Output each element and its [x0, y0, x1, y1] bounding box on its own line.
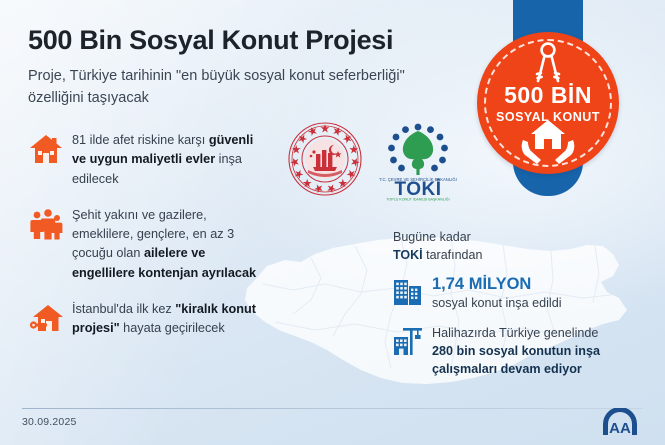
footer-date: 30.09.2025: [22, 416, 77, 428]
stat-line1: Halihazırda Türkiye genelinde: [432, 326, 598, 340]
list-item: Şehit yakını ve gazilere, emeklilere, ge…: [28, 205, 268, 283]
stats-panel: Bugüne kadar TOKİ tarafından: [393, 228, 643, 390]
list-item: 81 ilde afet riskine karşı güvenli ve uy…: [28, 130, 268, 189]
list-item-text: Şehit yakını ve gazilere, emeklilere, ge…: [72, 205, 268, 283]
stats-kicker-rest: tarafından: [423, 248, 483, 262]
aa-logo: AA: [600, 408, 640, 438]
stat-item: 1,74 MİLYON sosyal konut inşa edildi: [393, 274, 643, 313]
bullet-list: 81 ilde afet riskine karşı güvenli ve uy…: [28, 130, 268, 355]
page-title: 500 Bin Sosyal Konut Projesi: [28, 26, 498, 56]
hands-holding-house-icon: [517, 118, 579, 166]
footer-divider: [22, 408, 643, 409]
svg-text:AA: AA: [609, 420, 631, 437]
stat-text: 1,74 MİLYON sosyal konut inşa edildi: [432, 274, 562, 313]
crane-icon: [393, 324, 423, 356]
family-icon: [28, 206, 64, 242]
badge-500-bin: 500 BİN SOSYAL KONUT: [477, 32, 619, 174]
house-key-icon: [28, 300, 64, 336]
stats-kicker: Bugüne kadar TOKİ tarafından: [393, 228, 643, 264]
list-item: İstanbul'da ilk kez "kiralık konut proje…: [28, 299, 268, 339]
infographic-canvas: 500 BİN SOSYAL KONUT 500 Bin Sosyal Konu…: [0, 0, 665, 445]
house-icon: [28, 131, 64, 167]
page-subtitle: Proje, Türkiye tarihinin "en büyük sosya…: [28, 66, 428, 110]
stat-value: 1,74 MİLYON: [432, 275, 562, 295]
stats-kicker-line1: Bugüne kadar: [393, 230, 471, 244]
stats-kicker-toki: TOKİ: [393, 248, 423, 262]
keys-icon: [527, 41, 569, 85]
stat-text: Halihazırda Türkiye genelinde 280 bin so…: [432, 324, 643, 379]
stat-caption: sosyal konut inşa edildi: [432, 296, 562, 310]
buildings-icon: [393, 274, 423, 306]
list-item-text: İstanbul'da ilk kez "kiralık konut proje…: [72, 299, 268, 339]
toki-logo: T.C. ÇEVRE VE ŞEHİRCİLİK BAKANLIĞI TOKİ …: [377, 118, 459, 202]
badge-big-label: 500 BİN: [477, 84, 619, 107]
list-item-text: 81 ilde afet riskine karşı güvenli ve uy…: [72, 130, 268, 189]
ministry-emblem: [288, 122, 362, 196]
stat-line2: 280 bin sosyal konutun inşa çalışmaları …: [432, 344, 600, 376]
svg-text:TOPLU KONUT İDARESİ BAŞKANLIĞI: TOPLU KONUT İDARESİ BAŞKANLIĞI: [386, 197, 449, 202]
stat-item: Halihazırda Türkiye genelinde 280 bin so…: [393, 324, 643, 379]
